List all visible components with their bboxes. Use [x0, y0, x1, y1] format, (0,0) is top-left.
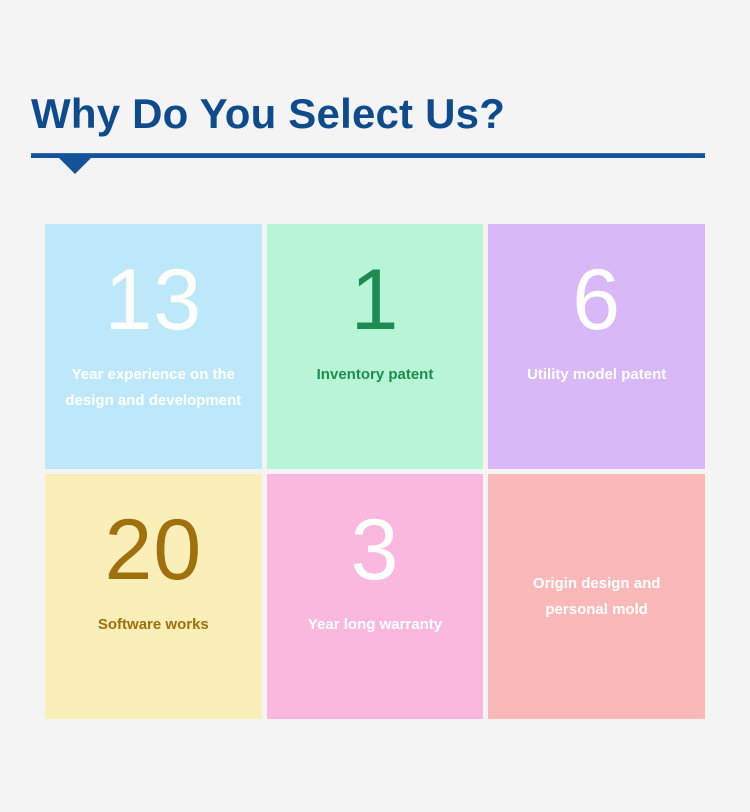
- stat-card-year-experience: 13 Year experience on the design and dev…: [45, 224, 262, 469]
- stat-card-label: Inventory patent: [317, 362, 434, 388]
- stat-card-origin-design: Origin design and personal mold: [488, 474, 705, 719]
- stat-card-number: 1: [351, 252, 400, 348]
- title-rule-bar: [31, 153, 705, 158]
- why-select-us-page: Why Do You Select Us? 13 Year experience…: [0, 0, 750, 812]
- stat-card-label: Utility model patent: [527, 362, 666, 388]
- stat-card-number: 3: [351, 502, 400, 598]
- title-underline: [31, 153, 705, 177]
- stat-card-year-long-warranty: 3 Year long warranty: [267, 474, 484, 719]
- stat-card-software-works: 20 Software works: [45, 474, 262, 719]
- chevron-down-icon: [59, 158, 91, 174]
- stat-card-label: Software works: [98, 612, 209, 638]
- stats-card-grid: 13 Year experience on the design and dev…: [45, 224, 705, 719]
- page-title: Why Do You Select Us?: [31, 88, 705, 140]
- page-header: Why Do You Select Us?: [31, 88, 705, 177]
- stat-card-number: 6: [572, 252, 621, 348]
- stat-card-label: Year experience on the design and develo…: [59, 362, 248, 414]
- stat-card-inventory-patent: 1 Inventory patent: [267, 224, 484, 469]
- stat-card-number: 13: [104, 252, 202, 348]
- stat-card-utility-model-patent: 6 Utility model patent: [488, 224, 705, 469]
- stat-card-number: 20: [104, 502, 202, 598]
- stat-card-label: Year long warranty: [308, 612, 442, 638]
- stat-card-label: Origin design and personal mold: [502, 571, 691, 623]
